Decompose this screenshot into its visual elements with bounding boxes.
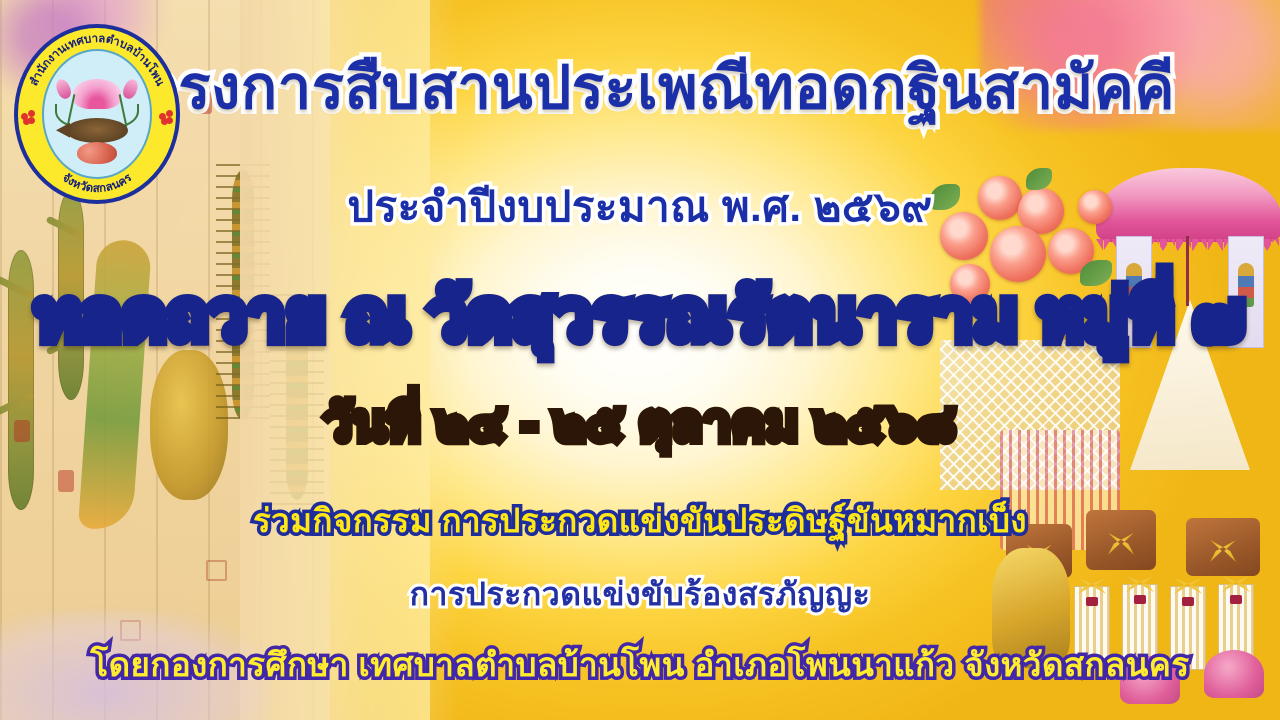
produce-icon: [77, 142, 117, 164]
florette-right-icon: [159, 110, 173, 124]
text-stage: โครงการสืบสานประเพณีทอดกฐินสามัคคี ประจำ…: [0, 0, 1280, 720]
logo-inner-disc: [42, 49, 152, 179]
fiscal-year: ประจำปีงบประมาณ พ.ศ. ๒๕๖๙: [0, 186, 1280, 228]
activity-line-2: การประกวดแข่งขับร้องสรภัญญะ: [0, 578, 1280, 610]
florette-left-icon: [21, 110, 35, 124]
lotus-bud-icon: [121, 77, 141, 100]
municipality-logo: สำนักงานเทศบาลตำบลบ้านโพน จังหวัดสกลนคร: [14, 24, 180, 204]
lotus-bud-icon: [54, 77, 74, 100]
organizer-line: โดยกองการศึกษา เทศบาลตำบลบ้านโพน อำเภอโพ…: [0, 648, 1280, 681]
activity-line-1: ร่วมกิจกรรม การประกวดแข่งขันประดิษฐ์ขันห…: [0, 504, 1280, 537]
venue-heading: ทอดถวาย ณ วัดสุวรรณรัตนาราม หมู่ที่ ๗: [0, 282, 1280, 350]
event-poster: โครงการสืบสานประเพณีทอดกฐินสามัคคี ประจำ…: [0, 0, 1280, 720]
event-date: วันที่ ๒๔ - ๒๕ ตุลาคม ๒๕๖๘: [0, 398, 1280, 448]
project-title: โครงการสืบสานประเพณีทอดกฐินสามัคคี: [0, 58, 1280, 118]
fish-icon: [66, 118, 128, 143]
